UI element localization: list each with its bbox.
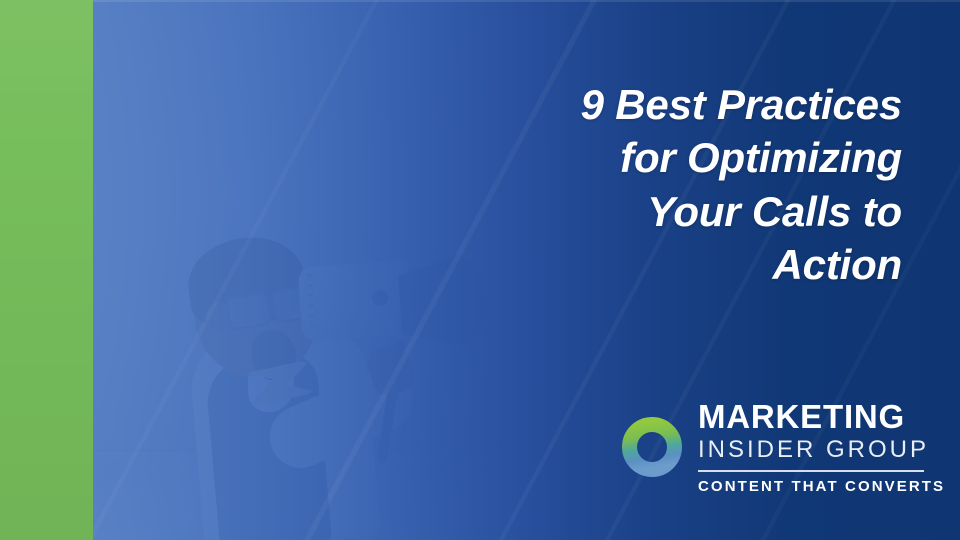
title-line-2: for Optimizing [482,131,902,184]
title-line-4: Action [482,238,902,291]
slide-canvas: 9 Best Practices for Optimizing Your Cal… [0,0,960,540]
logo-wordmark: MARKETING INSIDER GROUP CONTENT THAT CON… [698,400,945,494]
title-line-1: 9 Best Practices [482,78,902,131]
ring-donut-logomark [622,417,682,477]
logo-word-insider-group: INSIDER GROUP [698,438,945,462]
top-edge-highlight [0,0,960,2]
title-line-3: Your Calls to [482,185,902,238]
green-accent-bar [0,0,93,540]
page-title: 9 Best Practices for Optimizing Your Cal… [482,78,902,291]
brand-logo: MARKETING INSIDER GROUP CONTENT THAT CON… [622,400,945,494]
green-accent-bar-shading [0,0,93,540]
logo-divider-rule [698,470,924,472]
logo-word-marketing: MARKETING [698,400,945,433]
logo-tagline: CONTENT THAT CONVERTS [698,479,945,494]
